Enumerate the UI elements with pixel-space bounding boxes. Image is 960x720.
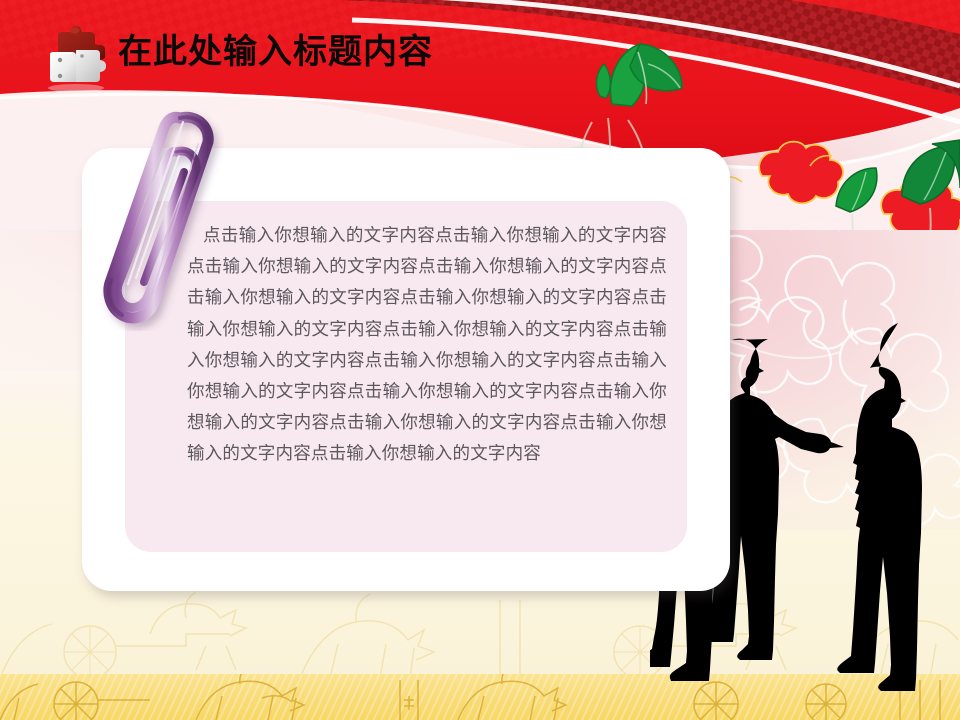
body-text[interactable]: 点击输入你想输入的文字内容点击输入你想输入的文字内容点击输入你想输入的文字内容点… — [187, 221, 667, 471]
slide-canvas: 在此处输入标题内容 点击输入你想输入的文字内容点击输入你想输入的文字内容点击输入… — [0, 0, 960, 720]
paperclip-icon — [84, 96, 224, 331]
puzzle-piece-icon — [40, 22, 120, 94]
page-title: 在此处输入标题内容 — [118, 24, 433, 73]
